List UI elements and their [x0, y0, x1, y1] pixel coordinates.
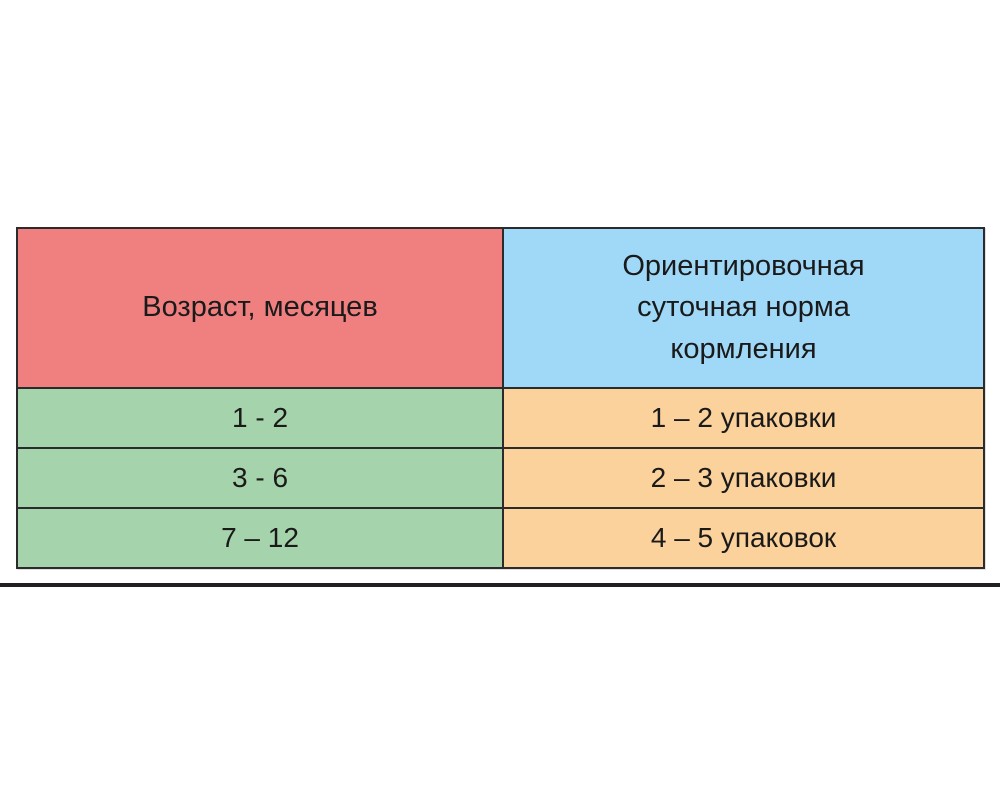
table-row: 1 - 2 1 – 2 упаковки: [17, 388, 984, 448]
cell-daily-norm-row-2: 2 – 3 упаковки: [503, 448, 984, 508]
feeding-norms-table: Возраст, месяцев Ориентировочная суточна…: [16, 227, 985, 569]
column-header-age: Возраст, месяцев: [17, 228, 503, 388]
column-header-daily-norm-line-2: суточная норма: [510, 287, 977, 328]
column-header-daily-norm-line-1: Ориентировочная: [510, 246, 977, 287]
cell-age-row-3: 7 – 12: [17, 508, 503, 568]
cell-age-row-2: 3 - 6: [17, 448, 503, 508]
horizontal-divider-rule: [0, 583, 1000, 587]
table-row: 3 - 6 2 – 3 упаковки: [17, 448, 984, 508]
cell-daily-norm-row-3: 4 – 5 упаковок: [503, 508, 984, 568]
cell-age-row-1: 1 - 2: [17, 388, 503, 448]
table-header-row: Возраст, месяцев Ориентировочная суточна…: [17, 228, 984, 388]
column-header-daily-norm-line-3: кормления: [510, 329, 977, 370]
cell-daily-norm-row-1: 1 – 2 упаковки: [503, 388, 984, 448]
page-canvas: Возраст, месяцев Ориентировочная суточна…: [0, 0, 1000, 799]
table-row: 7 – 12 4 – 5 упаковок: [17, 508, 984, 568]
column-header-daily-norm: Ориентировочная суточная норма кормления: [503, 228, 984, 388]
